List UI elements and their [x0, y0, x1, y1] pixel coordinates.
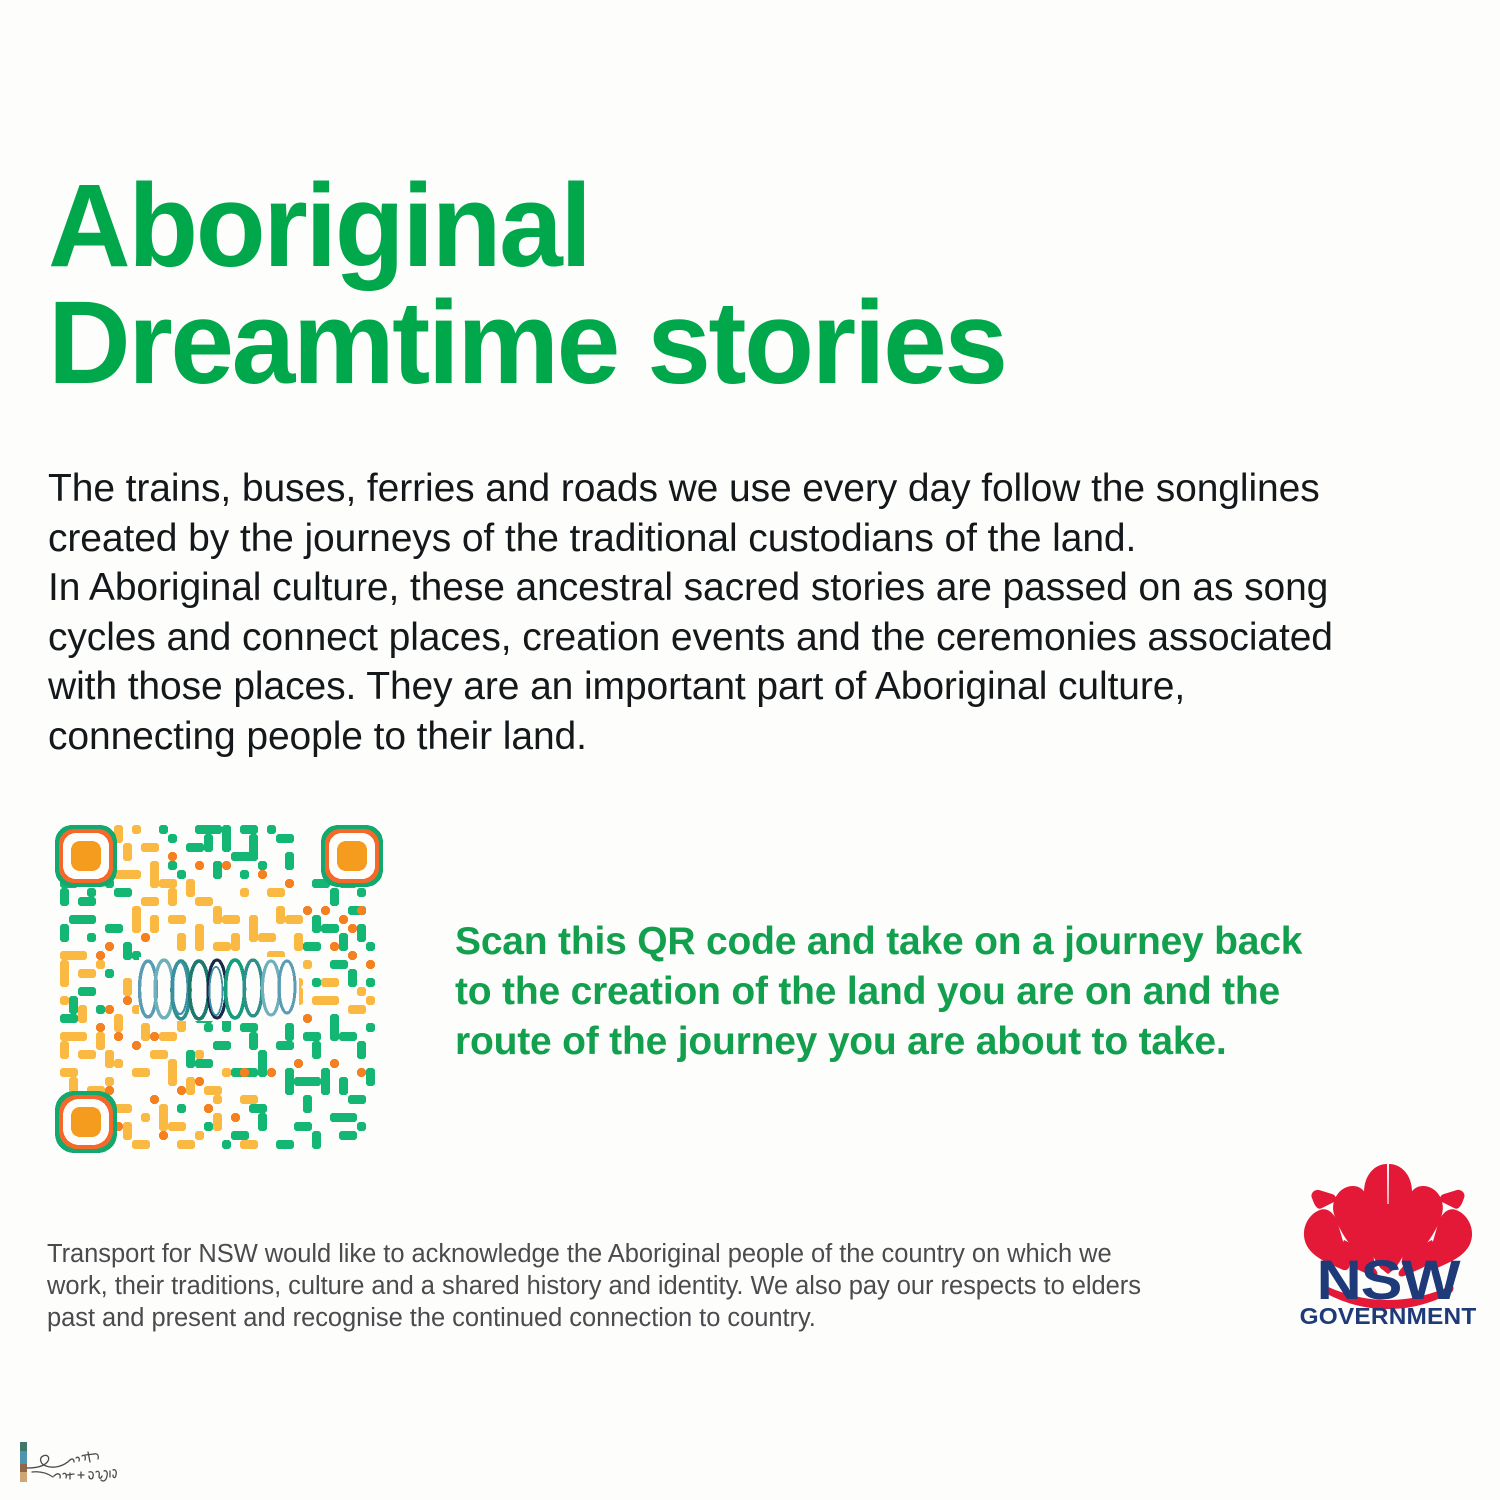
- signature-script: [27, 1452, 116, 1481]
- signature-colour-bars: [20, 1442, 27, 1482]
- waratah-icon: [1304, 1164, 1472, 1309]
- body-line: connecting people to their land.: [48, 712, 1478, 762]
- nsw-government-logo: NSW GOVERNMENT: [1296, 1144, 1480, 1330]
- body-line: with those places. They are an important…: [48, 662, 1478, 712]
- body-line: The trains, buses, ferries and roads we …: [48, 464, 1478, 514]
- qr-caption: Scan this QR code and take on a journey …: [455, 917, 1415, 1067]
- page-title-line-1: Aboriginal: [48, 168, 1212, 285]
- artist-signature-watermark: [14, 1428, 134, 1494]
- body-line: In Aboriginal culture, these ancestral s…: [48, 563, 1478, 613]
- acknowledgement-line: Transport for NSW would like to acknowle…: [47, 1238, 1262, 1270]
- qr-caption-line: route of the journey you are about to ta…: [455, 1017, 1415, 1067]
- acknowledgement-of-country: Transport for NSW would like to acknowle…: [47, 1238, 1262, 1334]
- page-title-line-2: Dreamtime stories: [48, 285, 1212, 402]
- body-line: created by the journeys of the tradition…: [48, 514, 1478, 564]
- qr-caption-line: to the creation of the land you are on a…: [455, 967, 1415, 1017]
- body-line: cycles and connect places, creation even…: [48, 613, 1478, 663]
- body-paragraph: The trains, buses, ferries and roads we …: [48, 464, 1478, 761]
- acknowledgement-line: work, their traditions, culture and a sh…: [47, 1270, 1262, 1302]
- acknowledgement-line: past and present and recognise the conti…: [47, 1302, 1262, 1334]
- poster-canvas: Aboriginal Dreamtime stories The trains,…: [0, 0, 1500, 1500]
- qr-code[interactable]: [47, 817, 391, 1161]
- page-title: Aboriginal Dreamtime stories: [48, 168, 1248, 402]
- qr-caption-line: Scan this QR code and take on a journey …: [455, 917, 1415, 967]
